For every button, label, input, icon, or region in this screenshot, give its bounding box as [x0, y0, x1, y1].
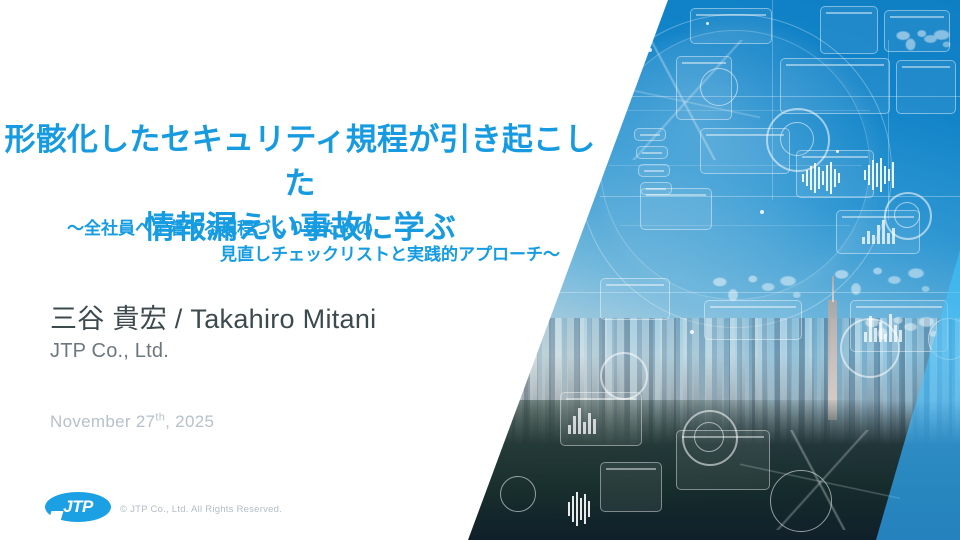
presentation-date: November 27th, 2025	[50, 412, 214, 432]
hud-dial	[600, 352, 648, 400]
hud-node	[706, 22, 709, 25]
hud-world-map	[700, 262, 810, 312]
hud-panel	[780, 58, 890, 114]
hud-node	[836, 150, 839, 153]
hud-network-mesh	[740, 430, 900, 530]
hud-connector	[888, 40, 889, 220]
hud-network-mesh	[610, 40, 760, 160]
page-subtitle: ～全社員へ定着する規程づくりのための 見直しチェックリストと実践的アプローチ～	[0, 216, 560, 269]
hud-world-map	[820, 252, 940, 308]
hud-bar-chart	[568, 404, 596, 434]
hud-dial	[500, 476, 536, 512]
hud-panel	[690, 8, 772, 44]
date-ordinal-suffix: th	[155, 411, 165, 423]
hero-image	[0, 0, 960, 540]
hud-world-map	[856, 306, 944, 348]
title-line-1: 形骸化したセキュリティ規程が引き起こした	[5, 122, 596, 201]
hud-panel	[600, 278, 670, 320]
hud-waveform	[864, 158, 894, 192]
hud-connector	[772, 0, 773, 200]
hud-list-item	[638, 164, 670, 177]
hud-overlay	[0, 0, 960, 540]
hud-waveform	[802, 162, 840, 194]
hud-bar-chart	[862, 218, 895, 244]
hud-panel	[600, 462, 662, 512]
hud-panel	[896, 60, 956, 114]
jtp-logo: JTP	[45, 492, 111, 522]
subtitle-line-1: ～全社員へ定着する規程づくりのための	[0, 216, 560, 242]
hud-list-item	[640, 182, 672, 195]
hud-dial	[894, 202, 920, 228]
copyright-notice: © JTP Co., Ltd. All Rights Reserved.	[120, 504, 282, 515]
hud-node	[760, 210, 764, 214]
hud-node	[690, 330, 694, 334]
subtitle-line-2: 見直しチェックリストと実践的アプローチ～	[0, 242, 560, 268]
title-slide: 形骸化したセキュリティ規程が引き起こした 情報漏えい事故に学ぶ ～全社員へ定着す…	[0, 0, 960, 540]
date-year: , 2025	[165, 412, 214, 431]
presenter-company: JTP Co., Ltd.	[50, 340, 169, 363]
hud-world-map	[892, 22, 954, 56]
hud-dial	[694, 422, 724, 452]
hud-waveform	[568, 492, 590, 526]
logo-text: JTP	[45, 492, 111, 522]
hud-connector	[560, 96, 960, 97]
hud-dial	[780, 122, 814, 156]
date-month-day: November 27	[50, 412, 155, 431]
presenter-name: 三谷 貴宏 / Takahiro Mitani	[50, 297, 376, 336]
hud-panel	[820, 6, 878, 54]
